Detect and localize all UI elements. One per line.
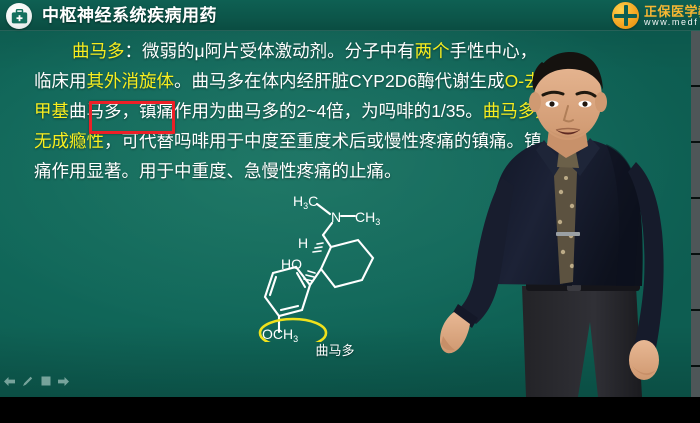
strip-segment [691, 143, 700, 199]
red-highlight-box [89, 101, 175, 134]
strip-segment [691, 199, 700, 255]
strip-segment [691, 367, 700, 397]
brand-url: www.medf [644, 17, 698, 27]
text-drug-name: 曲马多 [72, 41, 125, 61]
slide-header-bar: 中枢神经系统疾病用药 正保医学教 www.medf [0, 0, 700, 31]
text-l6a: 止痛。 [349, 161, 402, 181]
arrow-left-icon[interactable] [4, 376, 15, 387]
text-l2c: 。曲马多在体内经肝脏CYP2D6酶代谢 [174, 71, 470, 91]
page-title: 中枢神经系统疾病用药 [42, 4, 217, 28]
text-l1b: ：微弱的μ阿片受体激动剂。分子中有 [125, 41, 415, 61]
brand-cross-icon [612, 2, 639, 29]
text-l4c: ，可代替吗啡用于中度至重度术后或 [104, 131, 384, 151]
strip-segment [691, 31, 700, 87]
strip-segment [691, 87, 700, 143]
strip-segment [691, 255, 700, 311]
label-ho: HO [281, 256, 302, 272]
arrow-right-icon[interactable] [58, 376, 69, 387]
label-h3c: H3C [293, 193, 318, 211]
chem-caption: 曲马多 [255, 340, 415, 359]
square-icon[interactable] [40, 376, 51, 387]
text-racemate: 其外消旋体 [87, 71, 175, 91]
presenter-video-overlay [430, 46, 692, 397]
brand-logo: 正保医学教 www.medf [604, 1, 700, 31]
chemical-structure-tramadol: H3C N CH3 H HO OCH3 曲马多 [255, 192, 415, 362]
strip-segment [691, 311, 700, 367]
right-edge-panel-strip [691, 31, 700, 397]
pen-icon[interactable] [22, 376, 33, 387]
label-n: N [331, 209, 341, 225]
letterbox-bar [0, 397, 700, 423]
annotation-toolbar[interactable] [4, 372, 69, 390]
label-ch3: CH3 [355, 209, 380, 227]
medical-kit-icon [6, 3, 32, 29]
video-lecture-screenshot: 中枢神经系统疾病用药 正保医学教 www.medf 曲马多：微弱的μ阿片受体激动… [0, 0, 700, 423]
label-h: H [298, 235, 308, 251]
